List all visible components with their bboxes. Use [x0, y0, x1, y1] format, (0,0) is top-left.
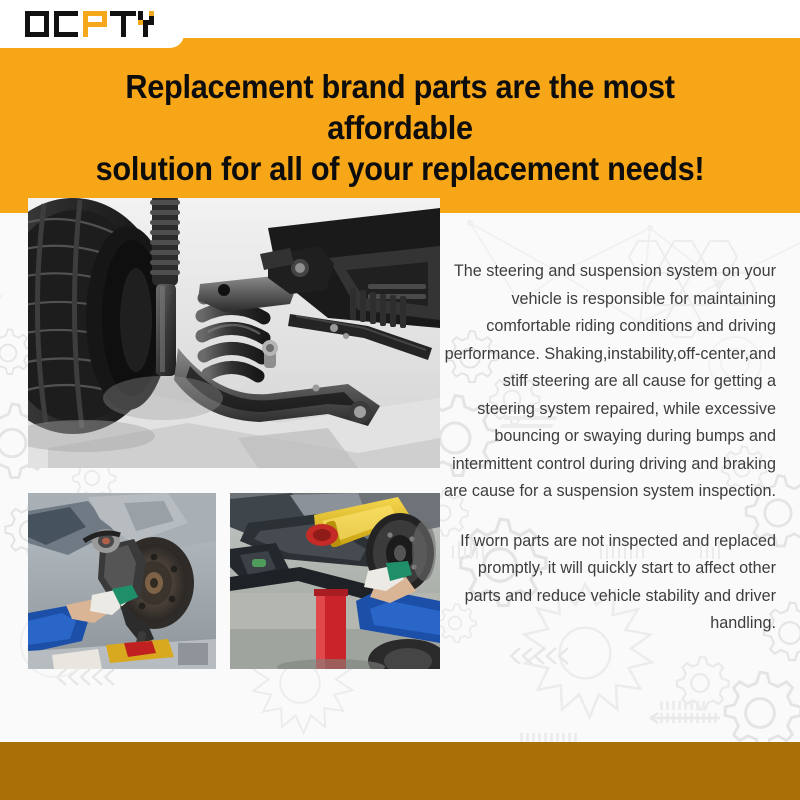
photo-mechanic-brake-disc	[28, 493, 216, 669]
brand-logo-badge[interactable]	[0, 0, 184, 48]
paragraph-worn-parts: If worn parts are not inspected and repl…	[443, 528, 776, 638]
photo-mechanic-lift-subframe	[230, 493, 440, 669]
footer-gold-bar	[0, 742, 800, 800]
brand-logo[interactable]	[25, 9, 165, 39]
ocpty-logo-icon	[25, 9, 165, 39]
page-headline: Replacement brand parts are the most aff…	[65, 66, 735, 189]
paragraph-steering-suspension: The steering and suspension system on yo…	[443, 258, 776, 506]
body-copy: The steering and suspension system on yo…	[443, 258, 776, 638]
poster-canvas: Replacement brand parts are the most aff…	[0, 0, 800, 800]
photo-suspension-strut-assembly	[28, 198, 440, 468]
